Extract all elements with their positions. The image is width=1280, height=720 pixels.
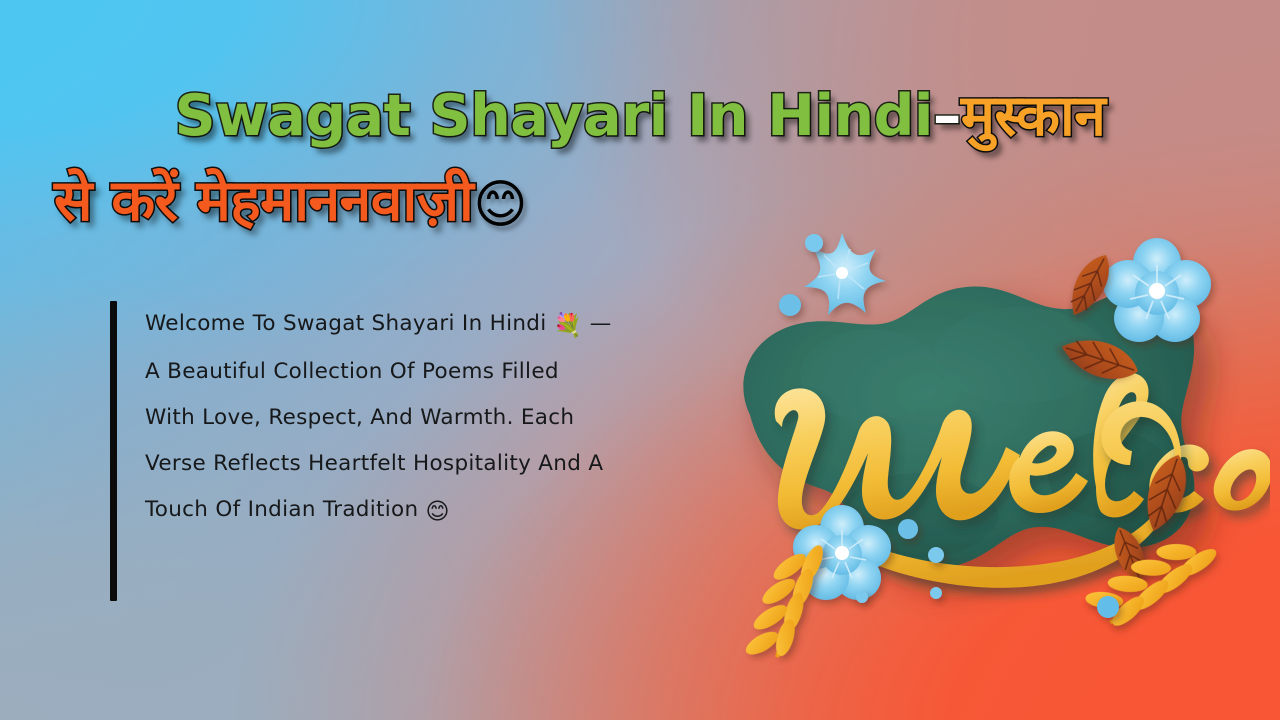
page-title-line-1: Swagat Shayari In Hindi–मुस्कान xyxy=(18,74,1262,159)
blue-flower-icon-right xyxy=(1103,238,1211,342)
vertical-accent-rule xyxy=(110,301,117,601)
title-hindi-word-1: मुस्कान xyxy=(961,83,1105,149)
poster-canvas: Swagat Shayari In Hindi–मुस्कान से करें … xyxy=(0,0,1280,720)
title-english-text: Swagat Shayari In Hindi xyxy=(175,83,933,149)
bouquet-icon: 💐 xyxy=(554,313,583,339)
title-dash: – xyxy=(933,83,961,149)
intro-line-6: Tradition xyxy=(323,497,419,522)
smiling-face-icon-body: 😊 xyxy=(426,499,450,525)
title-hindi-phrase-2: से करें मेहमाननवाज़ी xyxy=(54,168,473,234)
smiling-face-icon: 😊 xyxy=(473,175,527,235)
intro-paragraph-block: Welcome To Swagat Shayari In Hindi 💐 — A… xyxy=(110,301,630,601)
intro-line-1: Welcome To Swagat Shayari In Hindi xyxy=(145,311,547,336)
welcome-illustration xyxy=(690,225,1270,665)
page-title: Swagat Shayari In Hindi–मुस्कान से करें … xyxy=(0,74,1280,248)
intro-paragraph-text: Welcome To Swagat Shayari In Hindi 💐 — A… xyxy=(145,301,615,535)
